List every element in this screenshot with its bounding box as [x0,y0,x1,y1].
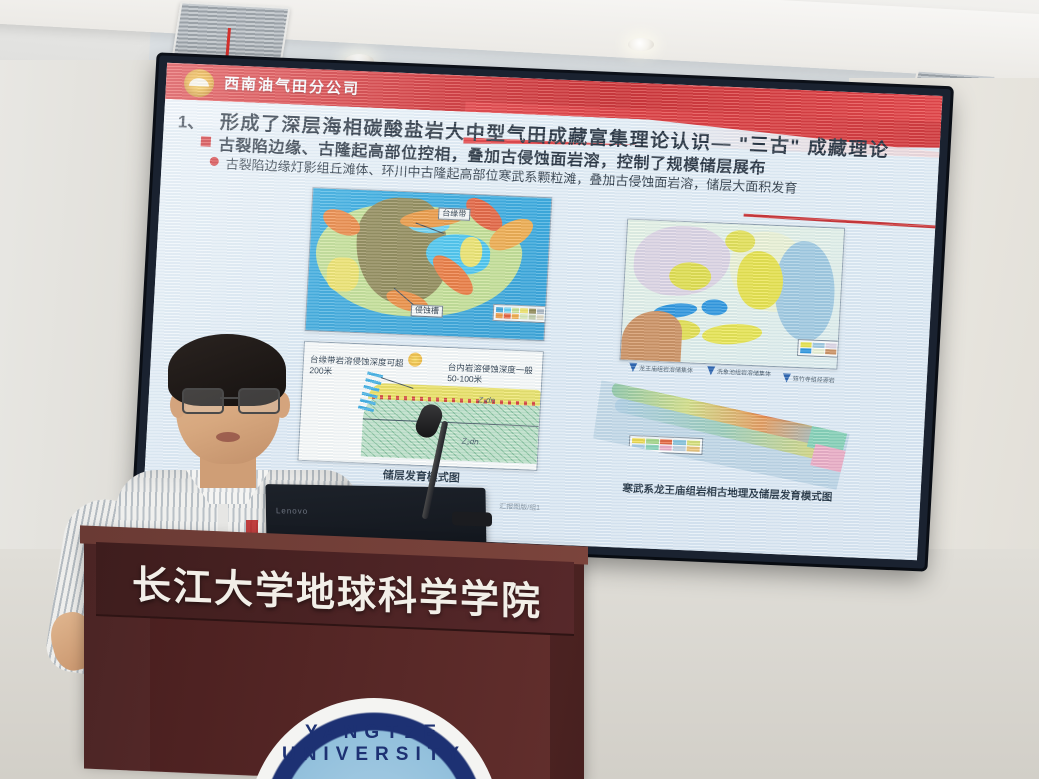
map-marker-icon [707,366,715,375]
right-map-marker-label: 龙王庙组岩溶储集体 [639,363,693,374]
left-xsec-canvas: 台缘带岩溶侵蚀深度可超200米 台内岩溶侵蚀深度一般50-100米 Z₂dn Z… [299,342,543,470]
right-xsec-legend [628,435,703,455]
figure-left-cross-section: 台缘带岩溶侵蚀深度可超200米 台内岩溶侵蚀深度一般50-100米 Z₂dn Z… [297,341,543,471]
left-map-legend [492,304,547,323]
strata-label: Z₂dn [462,437,479,447]
laptop-brand-label: Lenovo [276,506,308,516]
map-marker-icon [782,373,790,382]
map-region-yellow [702,322,763,346]
downlight-icon [628,38,654,51]
map-region-basement [621,309,684,363]
annotation-tainei-karst: 台内岩溶侵蚀深度一般50-100米 [447,362,536,387]
figure-right-map [619,219,845,370]
slide-footnote: 汇报图版/组1 [499,501,540,513]
microphone-base [452,511,492,526]
right-map-marker-label: 筇竹寺组烃源岩 [792,374,834,385]
annotation-taiyuan-karst: 台缘带岩溶侵蚀深度可超200米 [309,354,406,379]
screenshot-root: 西南油气田分公司 1、 形成了深层海相碳酸盐岩大中型气田成藏富集理论认识— "三… [0,0,1039,779]
map-region [326,257,360,292]
strata-label: Z₂dn [478,395,495,405]
hvac-vent-icon [172,1,291,64]
caption-right-figure: 寒武系龙王庙组岩相古地理及储层发育模式图 [622,481,833,505]
bullet-square-icon [201,136,212,146]
left-map-canvas: 台缘带 侵蚀槽 [306,188,552,340]
bullet-dot-icon [210,157,219,166]
map-label-shichaocao: 侵蚀槽 [411,304,444,318]
right-map-legend [797,339,840,358]
map-region-blue [701,299,728,316]
figure-left-map: 台缘带 侵蚀槽 [305,187,553,341]
right-map-canvas [621,220,845,369]
glasses-icon [182,388,278,410]
emblem-text: YANGTZE UNIVERSITY [248,722,500,766]
presenter-mouth [216,432,240,442]
figure-right-cross-section [591,371,853,490]
right-map-marker-label: 洗象池组岩溶储集体 [717,367,771,378]
slide-title-number: 1、 [177,107,205,133]
map-label-taiyuandai: 台缘带 [438,207,471,221]
caption-left-figure: 储层发育模式图 [382,466,460,485]
sun-icon [408,352,423,367]
map-marker-icon [629,363,637,372]
